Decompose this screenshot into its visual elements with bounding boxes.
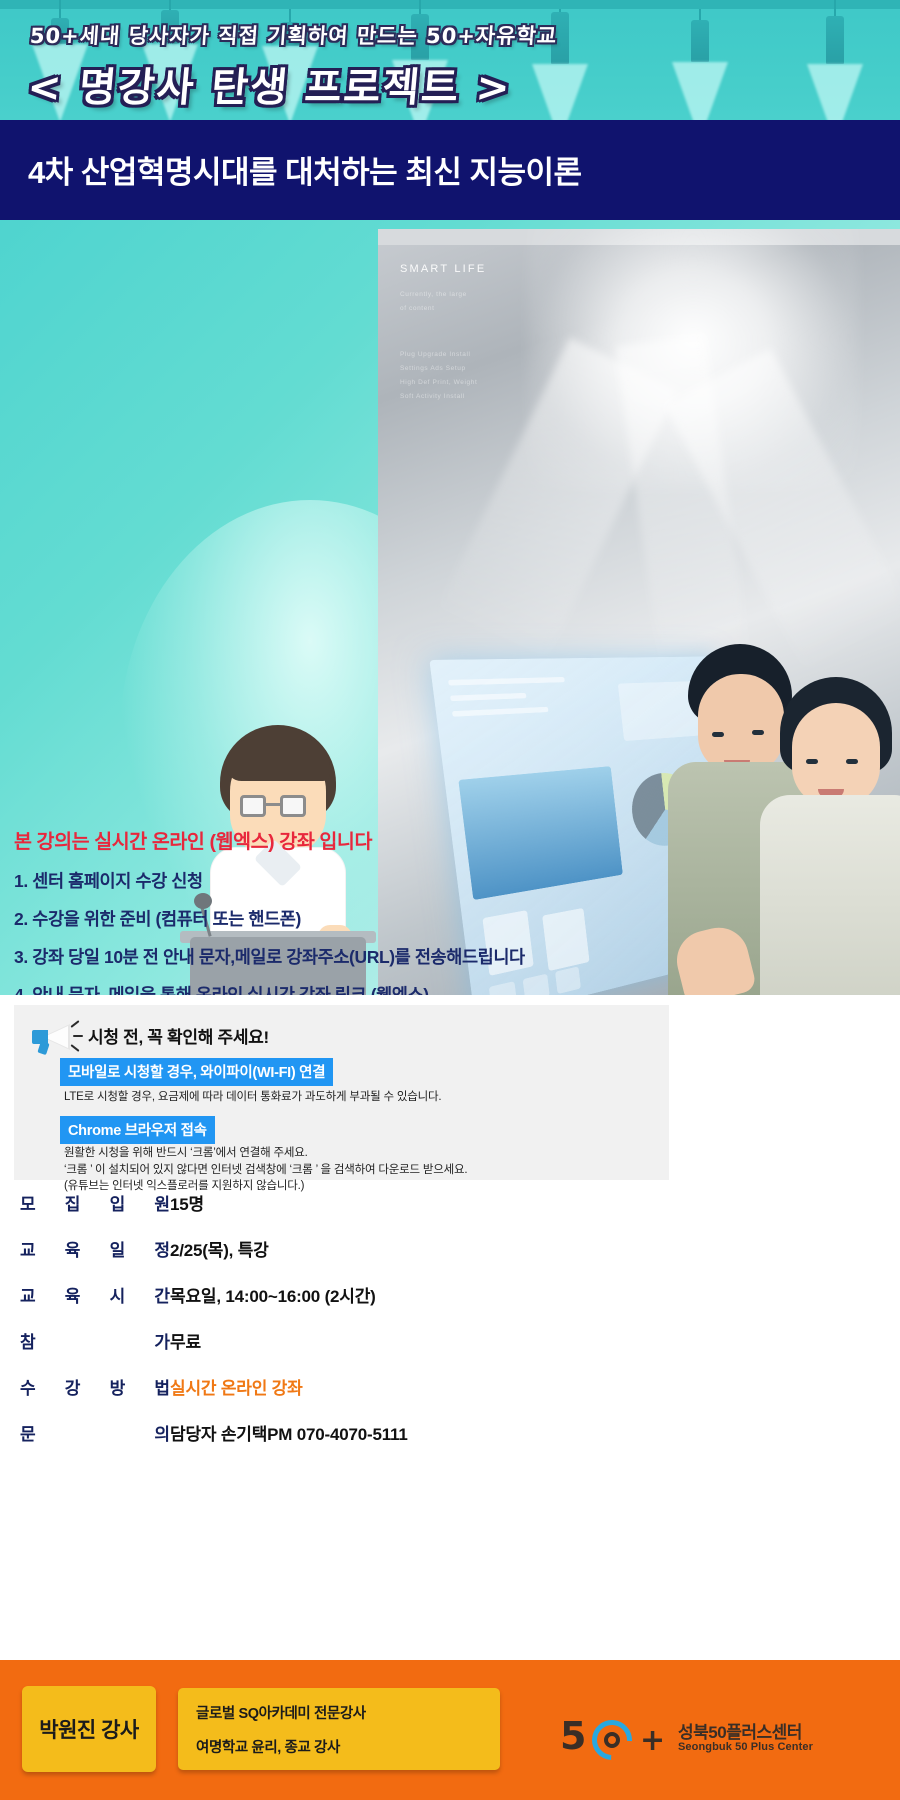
photo-subline: Currently, the large: [400, 291, 467, 298]
logo-digit-5: 5: [560, 1714, 586, 1758]
photo-subline: of content: [400, 305, 435, 312]
table-row: 문의 담당자 손기택PM 070-4070-5111: [20, 1420, 620, 1445]
instructor-name-badge: 박원진 강사: [22, 1686, 156, 1772]
course-title: 4차 산업혁명시대를 대처하는 최신 지능이론: [28, 147, 582, 192]
notice-lead: 본 강의는 실시간 온라인 (웹엑스) 강좌 입니다: [14, 825, 894, 854]
ceiling-rail: [0, 0, 900, 9]
table-row: 모집입원 15명: [20, 1190, 620, 1215]
checklist-tag-wifi: 모바일로 시청할 경우, 와이파이(WI-FI) 연결: [60, 1058, 333, 1086]
logo-name-en: Seongbuk 50 Plus Center: [678, 1741, 813, 1753]
detail-label-schedule: 교육일정: [20, 1236, 170, 1261]
notice-step: 2. 수강을 위한 준비 (컴퓨터 또는 핸드폰): [14, 906, 894, 931]
checklist-title: 시청 전, 꼭 확인해 주세요!: [88, 1023, 269, 1048]
hero-image-area: SMART LIFE Currently, the large of conte…: [0, 220, 900, 995]
detail-label-fee: 참가: [20, 1328, 170, 1353]
before-watching-checklist: 시청 전, 꼭 확인해 주세요! 모바일로 시청할 경우, 와이파이(WI-FI…: [14, 1005, 669, 1180]
notice-step: 1. 센터 홈페이지 수강 신청: [14, 868, 894, 893]
logo-name-kr: 성북50플러스센터: [678, 1718, 802, 1743]
detail-value-capacity: 15명: [170, 1190, 204, 1215]
detail-value-fee: 무료: [170, 1328, 201, 1353]
detail-value-contact: 담당자 손기택PM 070-4070-5111: [170, 1420, 408, 1445]
photo-subline: Settings Ads Setup: [400, 365, 466, 372]
header-main-title: < 명강사 탄생 프로젝트 >: [25, 55, 514, 113]
notice-step: 4. 안내 문자, 메일을 통해 온라인 실시간 강좌 링크 (웹엑스): [14, 982, 894, 995]
detail-label-method: 수강방법: [20, 1374, 170, 1399]
instructor-credential: 여명학교 윤리, 종교 강사: [196, 1736, 500, 1757]
photo-subline: Soft Activity Install: [400, 393, 465, 400]
instructor-credentials-box: 글로벌 SQ아카데미 전문강사 여명학교 윤리, 종교 강사: [178, 1688, 500, 1770]
photo-subline: Plug Upgrade Install: [400, 351, 471, 358]
logo-plus: +: [640, 1726, 665, 1756]
seongbuk-50plus-logo: 5 + 성북50플러스센터 Seongbuk 50 Plus Center: [560, 1716, 870, 1764]
table-row: 교육시간 목요일, 14:00~16:00 (2시간): [20, 1282, 620, 1307]
checklist-body-chrome: 원활한 시청을 위해 반드시 ‘크롬’에서 연결해 주세요. ‘크롬 ’ 이 설…: [64, 1145, 467, 1195]
course-title-bar: 4차 산업혁명시대를 대처하는 최신 지능이론: [0, 120, 900, 220]
photo-subline: High Def Print, Weight: [400, 379, 477, 386]
detail-value-method: 실시간 온라인 강좌: [170, 1374, 303, 1399]
instructor-name: 박원진 강사: [39, 1714, 138, 1744]
photo-caption: SMART LIFE: [400, 263, 486, 275]
instructor-credential: 글로벌 SQ아카데미 전문강사: [196, 1702, 500, 1723]
logo-inner-circle-icon: [604, 1732, 620, 1748]
detail-value-schedule: 2/25(목), 특강: [170, 1236, 269, 1261]
poster-root: 50+세대 당사자가 직접 기획하여 만드는 50+자유학교 < 명강사 탄생 …: [0, 0, 900, 1800]
table-row: 교육일정 2/25(목), 특강: [20, 1236, 620, 1261]
course-details-table: 모집입원 15명 교육일정 2/25(목), 특강 교육시간 목요일, 14:0…: [20, 1190, 620, 1466]
online-class-notice: 본 강의는 실시간 온라인 (웹엑스) 강좌 입니다 1. 센터 홈페이지 수강…: [14, 825, 894, 995]
megaphone-icon: [30, 1021, 82, 1055]
notice-step: 3. 강좌 당일 10분 전 안내 문자,메일로 강좌주소(URL)를 전송해드…: [14, 944, 894, 969]
detail-value-time: 목요일, 14:00~16:00 (2시간): [170, 1282, 376, 1307]
detail-label-time: 교육시간: [20, 1282, 170, 1307]
table-row: 참가 무료: [20, 1328, 620, 1353]
checklist-body-wifi: LTE로 시청할 경우, 요금제에 따라 데이터 통화료가 과도하게 부과될 수…: [64, 1089, 441, 1106]
detail-label-capacity: 모집입원: [20, 1190, 170, 1215]
header-subtitle: 50+세대 당사자가 직접 기획하여 만드는 50+자유학교: [29, 20, 558, 50]
detail-label-contact: 문의: [20, 1420, 170, 1445]
poster-footer: 박원진 강사 글로벌 SQ아카데미 전문강사 여명학교 윤리, 종교 강사 5 …: [0, 1660, 900, 1800]
table-row: 수강방법 실시간 온라인 강좌: [20, 1374, 620, 1399]
poster-header: 50+세대 당사자가 직접 기획하여 만드는 50+자유학교 < 명강사 탄생 …: [0, 0, 900, 120]
checklist-tag-chrome: Chrome 브라우저 접속: [60, 1116, 215, 1144]
